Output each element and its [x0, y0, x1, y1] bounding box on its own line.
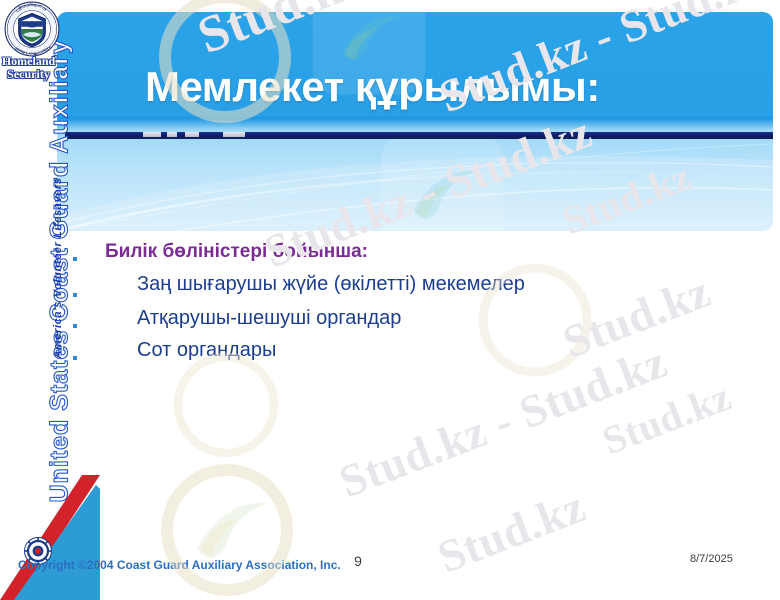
divider-dash-segment	[167, 132, 177, 137]
dhs-seal-icon: U.S. DEPART MENT OF HOME LAND SECURITY	[4, 1, 60, 57]
dhs-wordmark: Homeland Security	[0, 55, 57, 81]
presentation-slide: Мемлекет құрылымы: Билік бөліністері бой…	[0, 0, 780, 600]
left-branding-sidebar: U.S. DEPART MENT OF HOME LAND SECURITY H…	[0, 0, 57, 600]
dhs-wordmark-line2: Security	[0, 68, 57, 81]
bullet-text: Билік бөліністері бойынша:	[105, 241, 368, 263]
date-stamp: 8/7/2025	[690, 553, 733, 565]
divider-dash-segment	[223, 132, 245, 137]
divider-dash-segment	[143, 132, 161, 137]
slide-title-banner: Мемлекет құрылымы:	[57, 12, 773, 231]
divider-dash-segment	[185, 132, 199, 137]
page-number: 9	[330, 553, 386, 569]
bullet-text: Сот органдары	[137, 339, 276, 362]
title-divider-bar	[57, 131, 773, 140]
bullet-text: Атқарушы-шешуші органдар	[137, 307, 401, 330]
coast-guard-racing-stripe	[0, 475, 100, 600]
banner-decorative-swoosh	[57, 12, 773, 231]
copyright-notice: Copyright ©2004 Coast Guard Auxiliary As…	[18, 558, 341, 572]
sidebar-vertical-subtitle: America's Volunteer Lifesavers	[52, 118, 64, 418]
bullet-text: Заң шығарушы жүйе (өкілетті) мекемелер	[137, 273, 525, 296]
page-title: Мемлекет құрылымы:	[145, 63, 600, 111]
racing-stripe-graphic	[0, 475, 100, 600]
slide-body-content: Билік бөліністері бойынша: Заң шығарушы …	[57, 231, 773, 531]
